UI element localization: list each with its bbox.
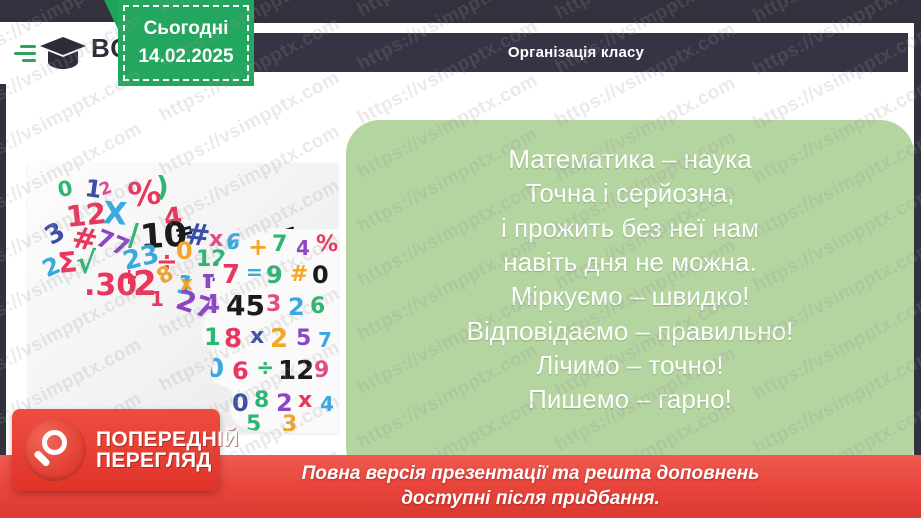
poem-panel: Математика – наука Точна і серйозна, і п…: [346, 120, 914, 481]
poem-line: Точна і серйозна,: [526, 176, 735, 210]
preview-badge: ПОПЕРЕДНІЙ ПЕРЕГЛЯД: [12, 409, 220, 491]
svg-text:+: +: [248, 233, 268, 261]
svg-text:8: 8: [254, 388, 269, 413]
math-symbol: 1: [150, 289, 164, 309]
slide-viewer: 012%)12X43#77/10=#x6Σ2√23÷01212.30+281π7…: [0, 0, 921, 518]
svg-text:2: 2: [204, 234, 219, 259]
svg-text:12: 12: [278, 356, 314, 386]
svg-text:4: 4: [202, 290, 220, 320]
svg-text:8: 8: [224, 324, 242, 354]
preview-line-1: ПОПЕРЕДНІЙ: [96, 429, 239, 450]
math-symbol: ): [156, 173, 169, 201]
slide-title-bar: Організація класу: [244, 33, 908, 72]
svg-text:7: 7: [222, 260, 240, 290]
poem-line: навіть дня не можна.: [503, 245, 756, 279]
svg-text:#: #: [290, 262, 308, 287]
math-symbol: 0: [56, 178, 75, 202]
svg-text:6: 6: [310, 294, 325, 319]
math-symbol: 0: [176, 239, 193, 263]
svg-text:x: x: [298, 388, 312, 413]
svg-text:÷: ÷: [256, 356, 274, 381]
svg-text:9: 9: [266, 261, 283, 289]
poem-line: Міркуємо – швидко!: [511, 279, 750, 313]
svg-text:7: 7: [272, 232, 287, 257]
poem-line: Відповідаємо – правильно!: [467, 314, 794, 348]
math-symbol: x: [180, 273, 193, 293]
math-symbol: 3: [41, 218, 70, 250]
svg-text:9: 9: [314, 358, 329, 383]
head-silhouette-icon: 2 5 + 7 4 % Σ 7 = 9 # 0 4: [196, 225, 338, 433]
today-label: Сьогодні: [144, 15, 229, 43]
svg-text:0: 0: [206, 354, 224, 384]
svg-text:7: 7: [318, 328, 332, 352]
svg-text:45: 45: [226, 289, 265, 322]
preview-badge-text: ПОПЕРЕДНІЙ ПЕРЕГЛЯД: [96, 429, 239, 472]
date-badge-wrapper: Сьогодні 14.02.2025: [104, 0, 254, 86]
banner-line-2: доступні після придбання.: [261, 487, 660, 511]
today-date: 14.02.2025: [138, 43, 233, 71]
poem-line: Лічимо – точно!: [536, 348, 723, 382]
speed-lines-icon: [12, 45, 36, 62]
svg-text:2: 2: [270, 324, 288, 354]
magnifier-icon: [24, 419, 86, 481]
magnifier-lens: [42, 430, 67, 455]
svg-text:5: 5: [226, 230, 240, 254]
preview-line-2: ПЕРЕГЛЯД: [96, 450, 239, 471]
svg-text:2: 2: [288, 293, 305, 321]
svg-text:4: 4: [296, 236, 310, 260]
svg-text:=: =: [246, 260, 263, 284]
graduation-cap-icon: [12, 35, 87, 71]
math-symbols-illustration: 012%)12X43#77/10=#x6Σ2√23÷01212.30+281π7…: [28, 163, 338, 433]
svg-text:Σ: Σ: [200, 259, 216, 287]
svg-text:4: 4: [320, 392, 334, 416]
poem-line: Математика – наука: [508, 142, 751, 176]
banner-line-1: Повна версія презентації та решта доповн…: [162, 462, 760, 486]
svg-text:5: 5: [246, 412, 261, 433]
svg-text:0: 0: [312, 261, 329, 289]
svg-text:x: x: [250, 324, 264, 349]
svg-text:3: 3: [266, 292, 281, 317]
svg-text:1: 1: [204, 323, 221, 351]
page-title: Організація класу: [508, 44, 644, 61]
poem-line: Пишемо – гарно!: [528, 382, 732, 416]
svg-text:%: %: [316, 232, 338, 257]
svg-text:5: 5: [296, 326, 311, 351]
svg-text:3: 3: [282, 412, 297, 433]
today-date-badge: Сьогодні 14.02.2025: [118, 0, 254, 86]
svg-text:6: 6: [232, 357, 249, 385]
poem-line: і прожить без неї нам: [501, 211, 759, 245]
